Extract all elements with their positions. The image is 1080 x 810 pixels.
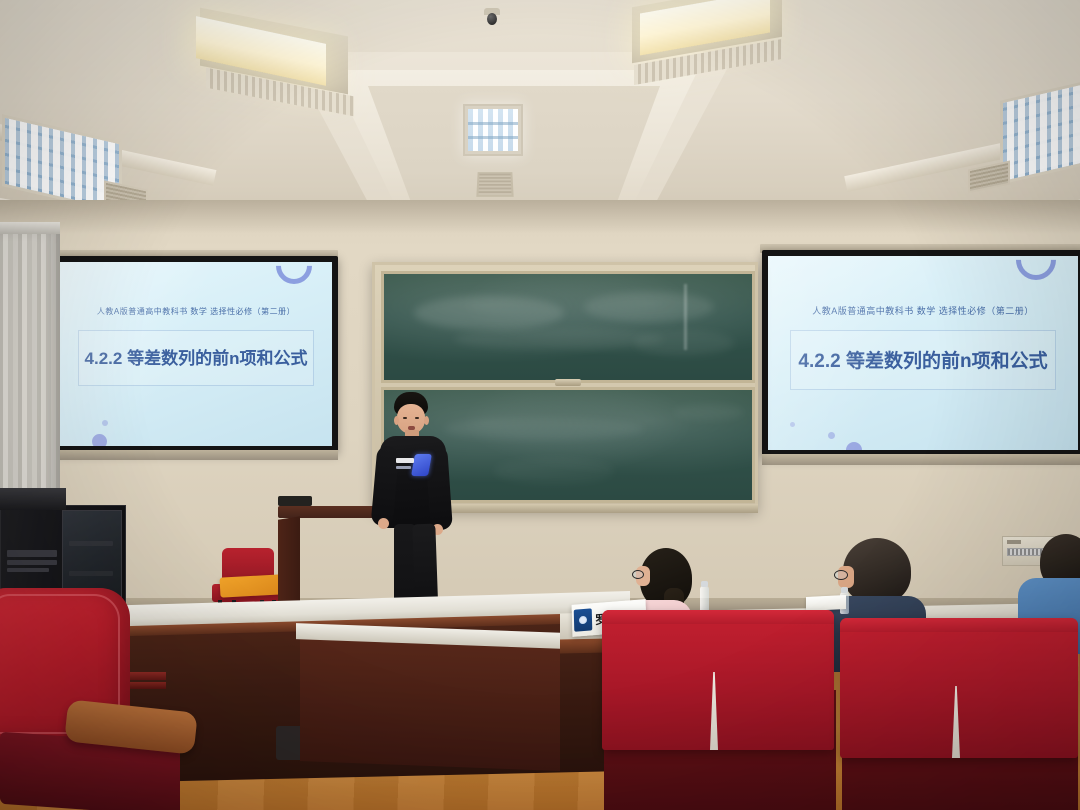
presenter-hand-left	[378, 518, 389, 529]
slide-dot-large	[846, 442, 862, 450]
chair-cover-1[interactable]	[602, 610, 834, 750]
slide-dot-mid	[828, 432, 835, 439]
screen-bottom-bar-left	[54, 450, 338, 460]
orange-cloth	[220, 574, 283, 597]
slide-subtitle-left: 人教A版普通高中教科书 数学 选择性必修（第二册）	[60, 306, 332, 317]
side-desk	[300, 631, 560, 771]
slide-dot-small	[790, 422, 795, 427]
foreground-armchair[interactable]	[0, 588, 210, 810]
slide-ring-decoration	[269, 262, 320, 291]
slide-title-right: 4.2.2 等差数列的前n项和公式	[768, 346, 1078, 373]
slide-dot-large	[92, 434, 107, 446]
screen-left-surface: 人教A版普通高中教科书 数学 选择性必修（第二册） 4.2.2 等差数列的前n项…	[60, 262, 332, 446]
sweatshirt-logo	[396, 454, 430, 476]
projection-screen-left[interactable]: 人教A版普通高中教科书 数学 选择性必修（第二册） 4.2.2 等差数列的前n项…	[54, 256, 338, 452]
slide-subtitle-right: 人教A版普通高中教科书 数学 选择性必修（第二册）	[768, 304, 1078, 317]
podium-device[interactable]	[278, 496, 312, 506]
audience-2-glasses	[834, 570, 848, 580]
name-card-badge	[574, 608, 593, 631]
wall-top-shadow	[0, 200, 1080, 234]
slide-ring-decoration	[1008, 256, 1065, 288]
lecture-hall-photo: 人教A版普通高中教科书 数学 选择性必修（第二册） 4.2.2 等差数列的前n项…	[0, 0, 1080, 810]
rack-top-equipment	[0, 488, 66, 510]
window-curtain-left	[0, 228, 60, 528]
screen-right-surface: 人教A版普通高中教科书 数学 选择性必修（第二册） 4.2.2 等差数列的前n项…	[768, 256, 1078, 450]
ceiling-light-center	[463, 104, 523, 156]
slide-title-left: 4.2.2 等差数列的前n项和公式	[60, 344, 332, 369]
dome-camera-icon	[484, 8, 500, 28]
screen-bottom-bar-right	[762, 454, 1080, 465]
blackboard-panel-upper	[381, 271, 755, 383]
audience-1-glasses	[632, 570, 644, 579]
audience-paper	[806, 595, 846, 611]
curtain-rail-left	[0, 222, 60, 234]
slide-dot-small	[102, 420, 108, 426]
blackboard-slide-handle[interactable]	[555, 379, 581, 386]
projection-screen-right[interactable]: 人教A版普通高中教科书 数学 选择性必修（第二册） 4.2.2 等差数列的前n项…	[762, 250, 1080, 456]
chair-cover-2[interactable]	[840, 618, 1078, 758]
ceiling-vent-center	[476, 172, 513, 197]
water-bottle-1	[700, 586, 709, 612]
